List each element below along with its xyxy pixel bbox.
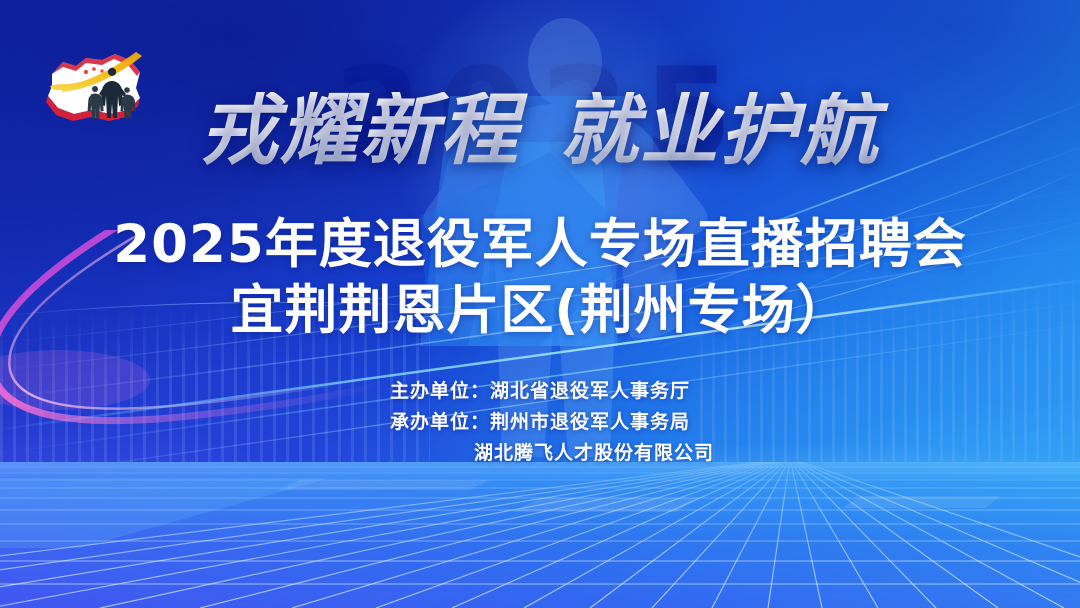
poster-canvas: 2025 — [0, 0, 1080, 608]
coorganizer-label: 承办单位： — [390, 407, 490, 438]
organizer-row-coorg-2: 湖北腾飞人才股份有限公司 — [0, 438, 1080, 469]
poster-content: 戎耀新程就业护航 2025年度退役军人专场直播招聘会 宜荆荆恩片区(荆州专场） … — [0, 0, 1080, 608]
organizers-block: 主办单位：湖北省退役军人事务厅 承办单位：荆州市退役军人事务局 湖北腾飞人才股份… — [0, 376, 1080, 469]
host-name: 湖北省退役军人事务厅 — [490, 380, 690, 402]
coorganizer-name-1: 荆州市退役军人事务局 — [490, 411, 690, 433]
calligraphy-headline: 戎耀新程就业护航 — [0, 92, 1080, 170]
headline-part-2: 就业护航 — [560, 87, 880, 174]
organizer-row-coorg-1: 承办单位：荆州市退役军人事务局 — [0, 407, 1080, 438]
coorganizer-name-2: 湖北腾飞人才股份有限公司 — [474, 442, 714, 464]
title-line-2: 宜荆荆恩片区(荆州专场） — [0, 278, 1080, 344]
host-label: 主办单位： — [390, 376, 490, 407]
title-line-1: 2025年度退役军人专场直播招聘会 — [0, 212, 1080, 278]
headline-part-1: 戎耀新程 — [200, 87, 520, 174]
main-title: 2025年度退役军人专场直播招聘会 宜荆荆恩片区(荆州专场） — [0, 212, 1080, 344]
organizer-row-host: 主办单位：湖北省退役军人事务厅 — [0, 376, 1080, 407]
